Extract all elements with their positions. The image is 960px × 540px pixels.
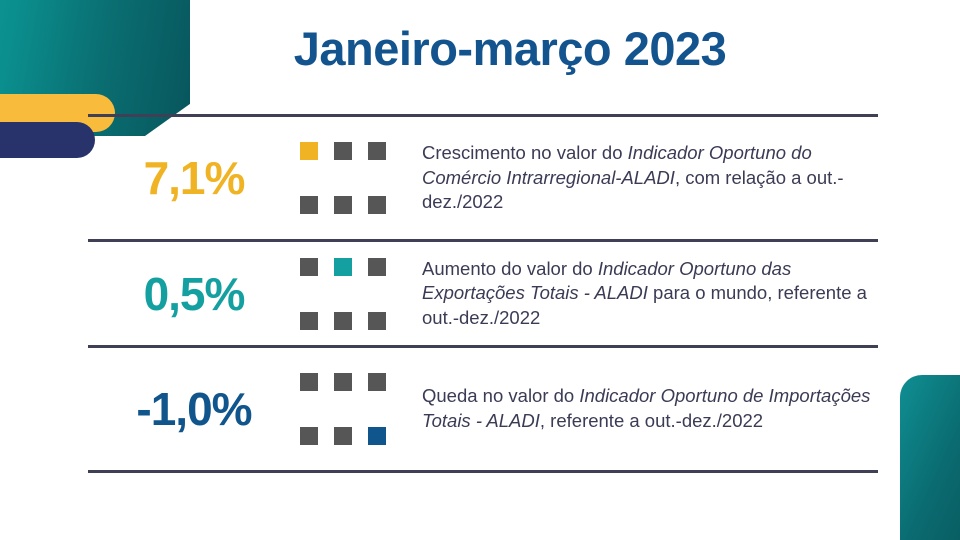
stats-list: 7,1% Crescimento no valor do Indicador O… — [88, 114, 878, 473]
matrix-square — [334, 312, 352, 330]
slide-canvas: Janeiro-março 2023 7,1% Crescimento no v… — [0, 0, 960, 540]
stat-value: 0,5% — [88, 267, 300, 321]
teal-block-icon — [900, 375, 960, 540]
matrix-square — [368, 196, 386, 214]
matrix-square — [334, 373, 352, 391]
dot-matrix-icon — [300, 142, 410, 214]
matrix-square — [300, 258, 318, 276]
matrix-square — [300, 373, 318, 391]
stat-description: Crescimento no valor do Indicador Oportu… — [422, 141, 878, 215]
dot-matrix-icon — [300, 258, 410, 330]
stat-description: Queda no valor do Indicador Oportuno de … — [422, 384, 878, 433]
stat-row: 7,1% Crescimento no valor do Indicador O… — [88, 117, 878, 239]
matrix-square — [368, 373, 386, 391]
desc-plain-lead: Aumento do valor do — [422, 258, 598, 279]
stat-description: Aumento do valor do Indicador Oportuno d… — [422, 257, 878, 331]
navy-pill-icon — [0, 122, 95, 158]
matrix-square — [300, 427, 318, 445]
desc-plain-tail: , referente a out.-dez./2022 — [540, 410, 763, 431]
stat-value: -1,0% — [88, 382, 300, 436]
matrix-square — [368, 258, 386, 276]
desc-plain-lead: Queda no valor do — [422, 385, 579, 406]
dot-matrix-icon — [300, 373, 410, 445]
stat-value: 7,1% — [88, 151, 300, 205]
matrix-square — [300, 142, 318, 160]
stat-row: -1,0% Queda no valor do Indicador Oportu… — [88, 348, 878, 470]
desc-plain-lead: Crescimento no valor do — [422, 142, 628, 163]
matrix-square — [300, 312, 318, 330]
stat-row: 0,5% Aumento do valor do Indicador Oport… — [88, 242, 878, 345]
matrix-square — [334, 196, 352, 214]
matrix-square — [368, 312, 386, 330]
matrix-square — [368, 427, 386, 445]
matrix-square — [300, 196, 318, 214]
matrix-square — [368, 142, 386, 160]
matrix-square — [334, 427, 352, 445]
page-title: Janeiro-março 2023 — [0, 24, 960, 73]
separator-bottom — [88, 470, 878, 473]
matrix-square — [334, 142, 352, 160]
matrix-square — [334, 258, 352, 276]
